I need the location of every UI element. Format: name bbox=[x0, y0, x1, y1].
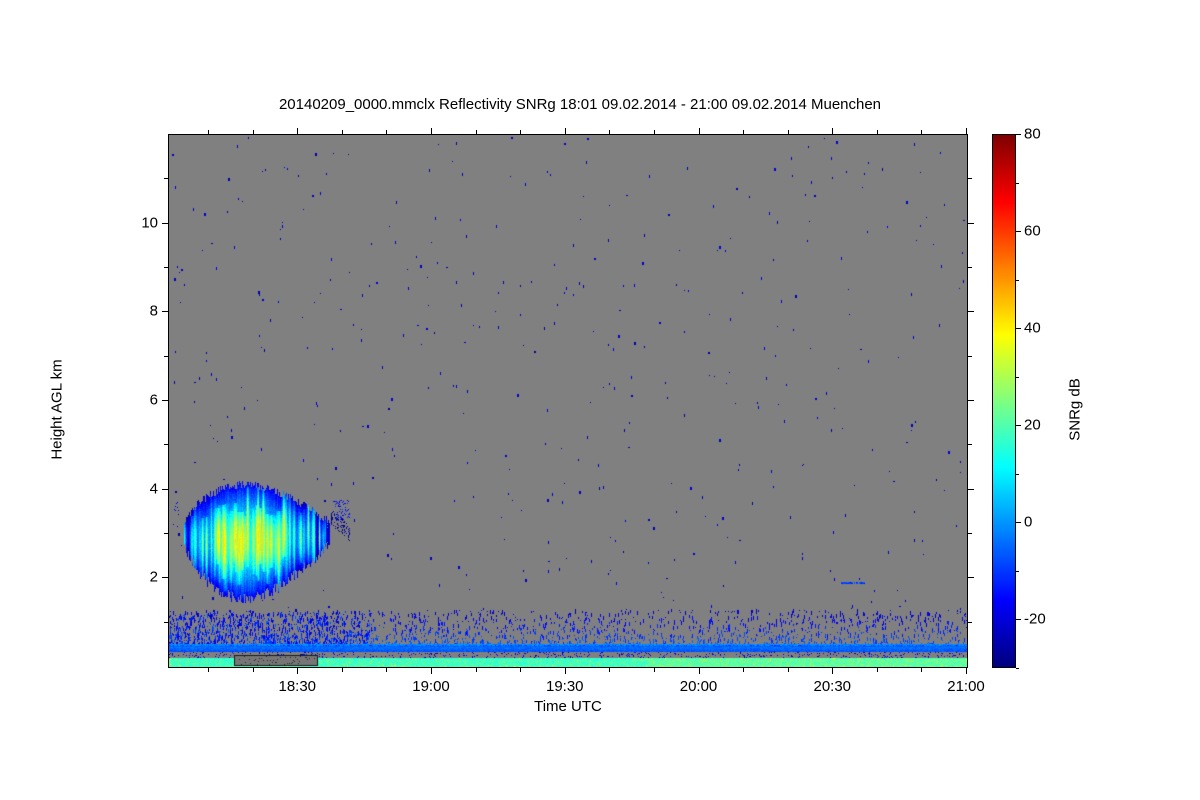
y-tick-minor-right bbox=[968, 356, 972, 357]
x-tick-major-top bbox=[832, 128, 833, 134]
x-tick-label: 20:00 bbox=[680, 678, 718, 695]
x-tick-label: 19:00 bbox=[412, 678, 450, 695]
plot-title: 20140209_0000.mmclx Reflectivity SNRg 18… bbox=[0, 96, 1160, 113]
y-tick-major-right bbox=[968, 223, 974, 224]
x-axis-title: Time UTC bbox=[168, 698, 968, 715]
y-axis-title: Height AGL km bbox=[49, 310, 66, 510]
y-tick-major-right bbox=[968, 311, 974, 312]
y-tick-minor bbox=[164, 178, 168, 179]
x-tick-minor-top bbox=[921, 130, 922, 134]
y-tick-minor-right bbox=[968, 178, 972, 179]
x-tick-minor-top bbox=[253, 130, 254, 134]
colorbar-tick-minor bbox=[1016, 474, 1019, 475]
y-tick-minor-right bbox=[968, 622, 972, 623]
x-tick-minor bbox=[476, 668, 477, 672]
y-tick-major-right bbox=[968, 577, 974, 578]
x-tick-minor-top bbox=[476, 130, 477, 134]
colorbar-tick-label: 60 bbox=[1024, 223, 1041, 240]
x-tick-minor bbox=[386, 668, 387, 672]
colorbar-tick-minor bbox=[1016, 280, 1019, 281]
colorbar-tick-label: 80 bbox=[1024, 126, 1041, 143]
colorbar-tick bbox=[1016, 328, 1021, 329]
x-tick-major-top bbox=[699, 128, 700, 134]
x-tick-major-top bbox=[565, 128, 566, 134]
y-tick-label: 8 bbox=[122, 303, 158, 320]
x-tick-minor-top bbox=[609, 130, 610, 134]
y-tick-minor bbox=[164, 622, 168, 623]
colorbar-tick-minor bbox=[1016, 668, 1019, 669]
x-tick-label: 18:30 bbox=[278, 678, 316, 695]
y-tick-major bbox=[162, 311, 168, 312]
colorbar-tick-minor bbox=[1016, 377, 1019, 378]
x-tick-minor-top bbox=[877, 130, 878, 134]
x-tick-major bbox=[431, 668, 432, 674]
x-tick-major bbox=[699, 668, 700, 674]
x-tick-minor-top bbox=[743, 130, 744, 134]
x-tick-minor bbox=[342, 668, 343, 672]
x-tick-minor bbox=[520, 668, 521, 672]
y-tick-minor-right bbox=[968, 444, 972, 445]
y-tick-major bbox=[162, 400, 168, 401]
reflectivity-heatmap bbox=[169, 135, 967, 667]
y-tick-minor bbox=[164, 356, 168, 357]
x-tick-minor bbox=[788, 668, 789, 672]
y-tick-major bbox=[162, 223, 168, 224]
y-tick-major-right bbox=[968, 489, 974, 490]
x-tick-major bbox=[966, 668, 967, 674]
colorbar-tick-minor bbox=[1016, 571, 1019, 572]
colorbar-tick bbox=[1016, 425, 1021, 426]
y-tick-minor-right bbox=[968, 533, 972, 534]
y-tick-minor-right bbox=[968, 267, 972, 268]
x-tick-minor-top bbox=[342, 130, 343, 134]
colorbar-tick bbox=[1016, 231, 1021, 232]
colorbar-tick bbox=[1016, 619, 1021, 620]
x-tick-major bbox=[297, 668, 298, 674]
x-tick-label: 19:30 bbox=[546, 678, 584, 695]
y-tick-label: 6 bbox=[122, 392, 158, 409]
y-tick-minor bbox=[164, 533, 168, 534]
y-tick-label: 2 bbox=[122, 569, 158, 586]
radar-figure: 20140209_0000.mmclx Reflectivity SNRg 18… bbox=[0, 0, 1200, 800]
x-tick-major-top bbox=[297, 128, 298, 134]
colorbar-tick-label: -20 bbox=[1024, 611, 1046, 628]
x-tick-minor-top bbox=[654, 130, 655, 134]
x-tick-minor-top bbox=[520, 130, 521, 134]
y-tick-major-right bbox=[968, 400, 974, 401]
x-tick-minor-top bbox=[386, 130, 387, 134]
y-tick-label: 4 bbox=[122, 480, 158, 497]
colorbar-tick-minor bbox=[1016, 183, 1019, 184]
colorbar-title: SNRg dB bbox=[1067, 310, 1084, 510]
y-tick-minor bbox=[164, 267, 168, 268]
x-tick-minor bbox=[877, 668, 878, 672]
x-tick-minor bbox=[654, 668, 655, 672]
x-tick-label: 21:00 bbox=[947, 678, 985, 695]
x-tick-major bbox=[832, 668, 833, 674]
x-tick-minor bbox=[253, 668, 254, 672]
colorbar-tick-label: 20 bbox=[1024, 417, 1041, 434]
colorbar-tick-label: 0 bbox=[1024, 514, 1032, 531]
y-tick-major bbox=[162, 577, 168, 578]
y-tick-major bbox=[162, 489, 168, 490]
colorbar-tick-label: 40 bbox=[1024, 320, 1041, 337]
x-tick-major bbox=[565, 668, 566, 674]
x-tick-major-top bbox=[431, 128, 432, 134]
x-tick-minor bbox=[609, 668, 610, 672]
x-tick-minor bbox=[208, 668, 209, 672]
y-tick-label: 10 bbox=[122, 214, 158, 231]
x-tick-major-top bbox=[966, 128, 967, 134]
x-tick-minor bbox=[743, 668, 744, 672]
x-tick-minor-top bbox=[208, 130, 209, 134]
colorbar-gradient bbox=[993, 135, 1015, 667]
x-tick-label: 20:30 bbox=[813, 678, 851, 695]
colorbar-tick bbox=[1016, 522, 1021, 523]
y-tick-minor bbox=[164, 444, 168, 445]
x-tick-minor bbox=[921, 668, 922, 672]
colorbar-tick bbox=[1016, 134, 1021, 135]
x-tick-minor-top bbox=[788, 130, 789, 134]
